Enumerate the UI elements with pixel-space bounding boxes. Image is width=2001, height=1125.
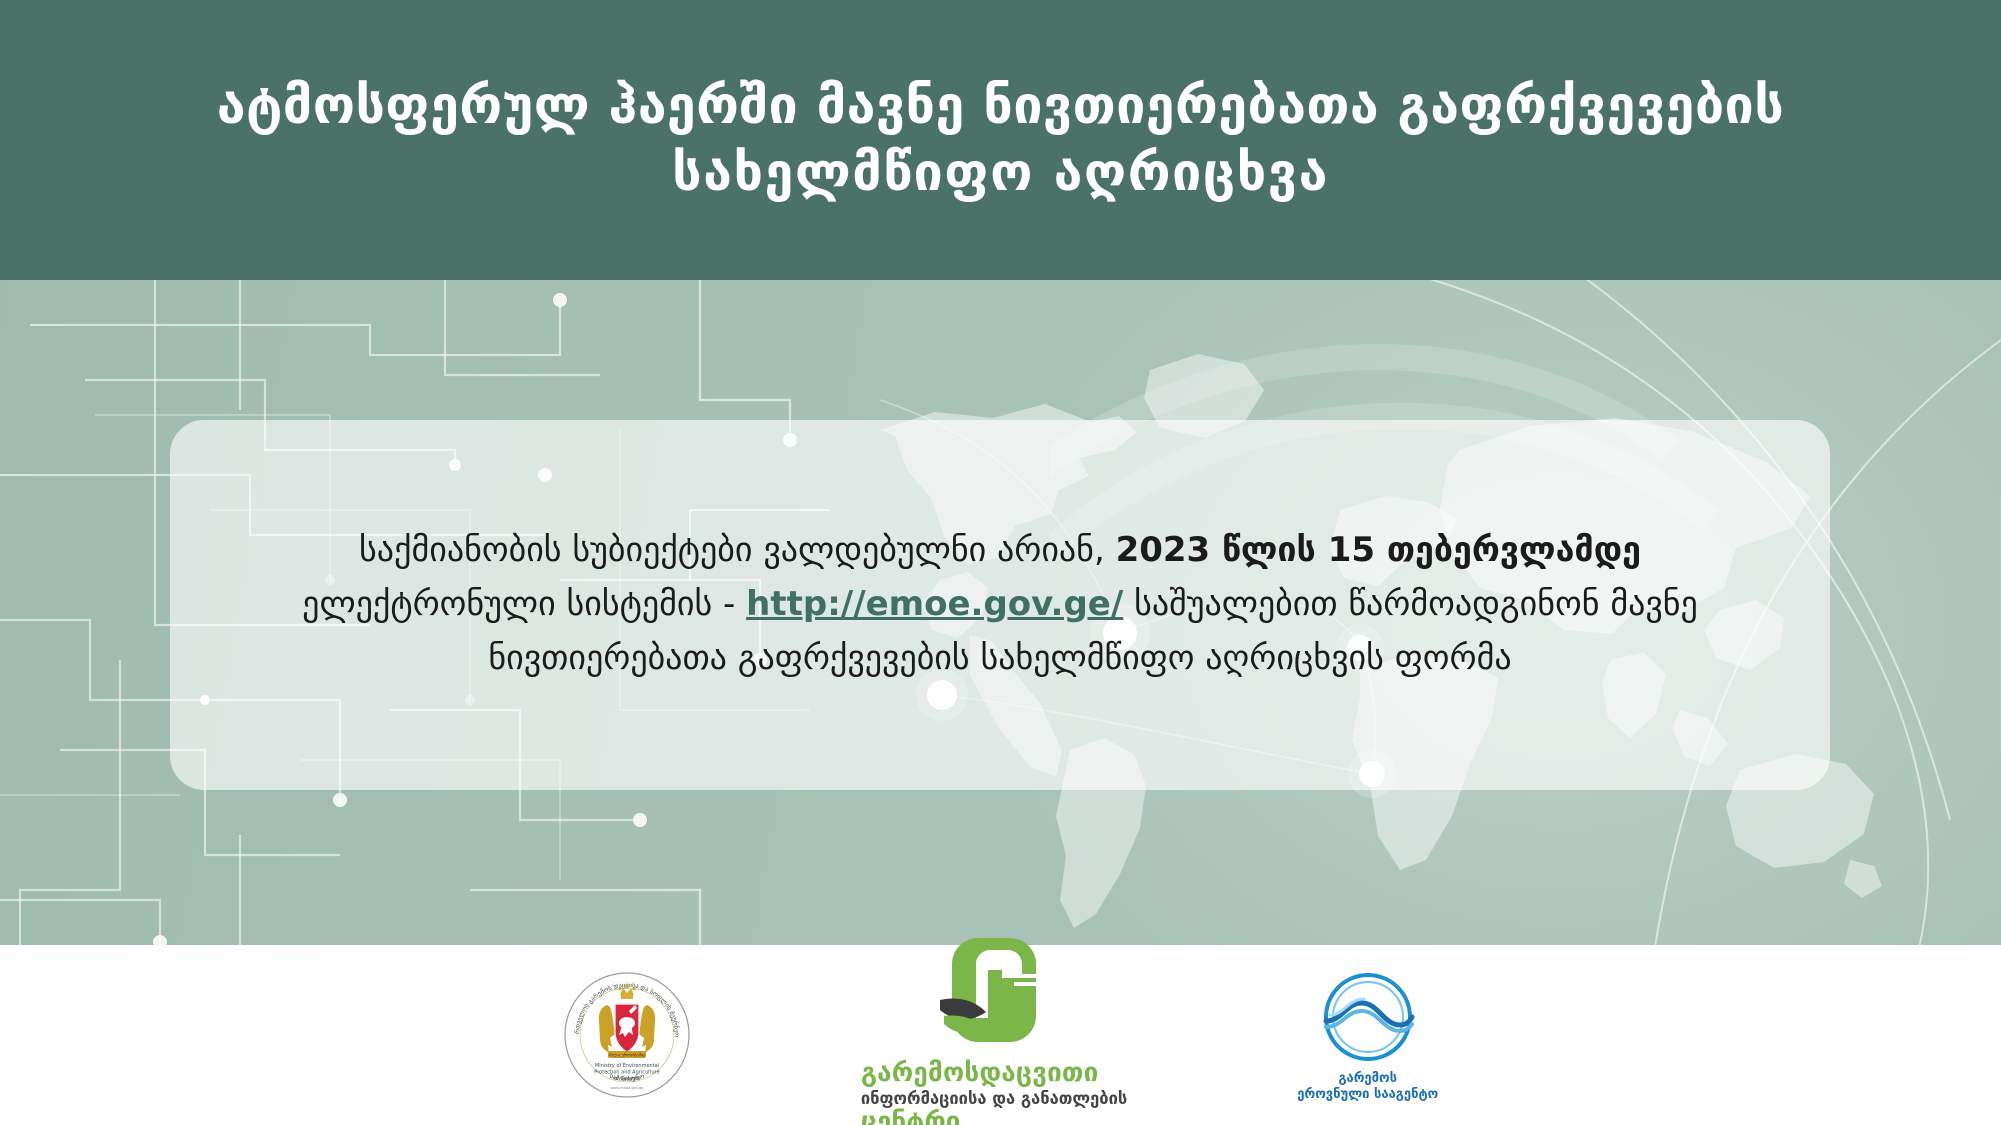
announcement-deadline: 2023 წლის 15 თებერვლამდე	[1116, 530, 1641, 570]
eiec-line-3: ცენტრი	[861, 1109, 1127, 1125]
announcement-part-3: ელექტრონული სისტემის -	[302, 584, 746, 624]
nea-line-2: ეროვნული სააგენტო	[1297, 1087, 1438, 1102]
nea-line-1: გარემოს	[1338, 1071, 1397, 1086]
logo-environmental-information-education-centre: გარემოსდაცვითი ინფორმაციისა და განათლები…	[861, 934, 1127, 1125]
announcement-card: საქმიანობის სუბიექტები ვალდებულნი არიან,…	[170, 420, 1830, 790]
eiec-line-2: ინფორმაციისა და განათლების	[861, 1090, 1127, 1107]
eiec-line-1: გარემოსდაცვითი	[861, 1060, 1127, 1087]
eiec-book-icon	[938, 934, 1050, 1046]
poster-header: ატმოსფერულ ჰაერში მავნე ნივთიერებათა გაფ…	[0, 0, 2001, 280]
footer-logo-bar: საქართველოს გარემოს დაცვისა და სოფლის მე…	[0, 945, 2001, 1125]
poster-root: ატმოსფერულ ჰაერში მავნე ნივთიერებათა გაფ…	[0, 0, 2001, 1125]
page-title-line-2: სახელმწიფო აღრიცხვა	[672, 143, 1329, 204]
eiec-text-block: გარემოსდაცვითი ინფორმაციისა და განათლები…	[861, 1060, 1127, 1125]
logo-ministry-of-environmental-protection: საქართველოს გარემოს დაცვისა და სოფლის მე…	[563, 971, 691, 1099]
announcement-part-1: საქმიანობის სუბიექტები ვალდებულნი არიან,	[359, 530, 1116, 570]
svg-text:Ministry of Environmental: Ministry of Environmental	[595, 1063, 659, 1069]
announcement-text: საქმიანობის სუბიექტები ვალდებულნი არიან,…	[170, 524, 1830, 685]
logo-national-environmental-agency: გარემოს ეროვნული სააგენტო	[1297, 969, 1438, 1102]
emoe-portal-link[interactable]: http://emoe.gov.ge/	[746, 584, 1123, 624]
svg-text:www.mepa.gov.ge: www.mepa.gov.ge	[610, 1086, 644, 1090]
svg-text:Protection and Agriculture: Protection and Agriculture	[594, 1070, 659, 1076]
nea-wave-circle-icon	[1320, 969, 1416, 1065]
page-title-line-1: ატმოსფერულ ჰაერში მავნე ნივთიერებათა გაფ…	[217, 76, 1784, 137]
ministry-seal-icon: საქართველოს გარემოს დაცვისა და სოფლის მე…	[563, 971, 691, 1099]
svg-text:ძალა ერთობაშია: ძალა ერთობაშია	[608, 1052, 646, 1059]
svg-text:of Georgia: of Georgia	[614, 1076, 640, 1082]
poster-body-band: საქმიანობის სუბიექტები ვალდებულნი არიან,…	[0, 280, 2001, 945]
